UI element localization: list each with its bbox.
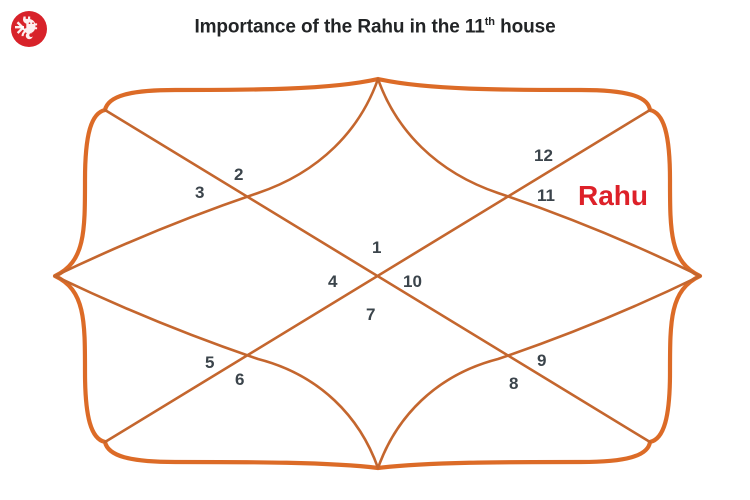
house-number-2: 2 bbox=[234, 166, 243, 183]
house-number-5: 5 bbox=[205, 354, 214, 371]
house-number-11: 11 bbox=[537, 187, 555, 204]
house-number-3: 3 bbox=[195, 184, 204, 201]
chart-page: Importance of the Rahu in the 11th house bbox=[0, 0, 750, 500]
house-number-8: 8 bbox=[509, 375, 518, 392]
planet-label-rahu: Rahu bbox=[578, 182, 648, 210]
house-number-10: 10 bbox=[403, 273, 422, 290]
house-number-6: 6 bbox=[235, 371, 244, 388]
house-number-7: 7 bbox=[366, 306, 375, 323]
house-number-9: 9 bbox=[537, 352, 546, 369]
house-number-12: 12 bbox=[534, 147, 553, 164]
chart-inner-diagonals bbox=[105, 110, 650, 442]
house-number-1: 1 bbox=[372, 239, 381, 256]
house-number-4: 4 bbox=[328, 273, 337, 290]
